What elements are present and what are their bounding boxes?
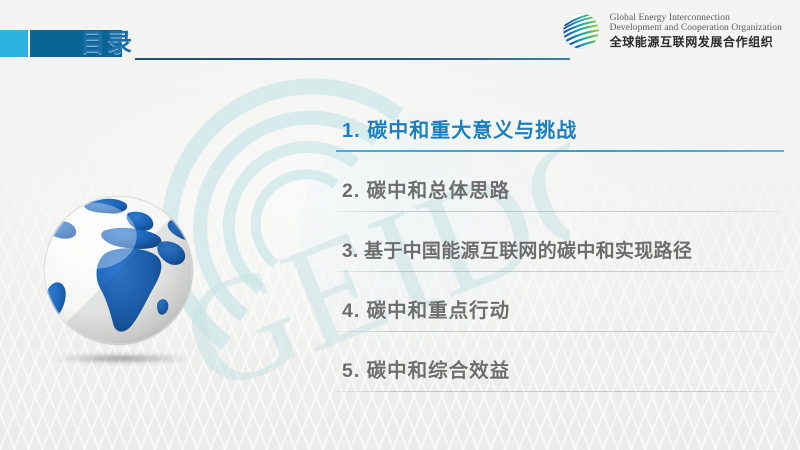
- toc-item-2[interactable]: 2. 碳中和总体思路: [336, 152, 784, 212]
- toc-item-5[interactable]: 5. 碳中和综合效益: [336, 332, 784, 392]
- org-name-cn: 全球能源互联网发展合作组织: [610, 36, 782, 49]
- toc-item-1[interactable]: 1. 碳中和重大意义与挑战: [336, 92, 784, 152]
- org-name-en-line2: Development and Cooperation Organization: [610, 23, 782, 34]
- header-divider: [135, 58, 570, 60]
- toc-item-1-label: 1. 碳中和重大意义与挑战: [342, 114, 577, 143]
- org-name-en-line1: Global Energy Interconnection: [610, 13, 782, 24]
- organization-logo: Global Energy Interconnection Developmen…: [559, 9, 782, 53]
- globe-illustration: [36, 188, 216, 378]
- toc-item-5-label: 5. 碳中和综合效益: [342, 354, 510, 383]
- toc-item-4[interactable]: 4. 碳中和重点行动: [336, 272, 784, 332]
- toc-item-3-label: 3. 基于中国能源互联网的碳中和实现路径: [342, 236, 692, 263]
- toc-item-3[interactable]: 3. 基于中国能源互联网的碳中和实现路径: [336, 212, 784, 272]
- organization-logo-text: Global Energy Interconnection Developmen…: [610, 13, 782, 50]
- earth-globe-3d-icon: [36, 188, 201, 353]
- toc-item-4-label: 4. 碳中和重点行动: [342, 294, 510, 323]
- toc-item-5-underline: [336, 391, 784, 392]
- striped-globe-icon: [559, 9, 603, 53]
- header-accent-block-light: [0, 30, 28, 57]
- presentation-slide: GEIDCO 目录: [0, 0, 800, 450]
- page-title: 目录: [80, 23, 134, 59]
- globe-drop-shadow: [54, 354, 190, 363]
- toc-item-2-label: 2. 碳中和总体思路: [342, 174, 510, 203]
- table-of-contents: 1. 碳中和重大意义与挑战 2. 碳中和总体思路 3. 基于中国能源互联网的碳中…: [336, 92, 784, 392]
